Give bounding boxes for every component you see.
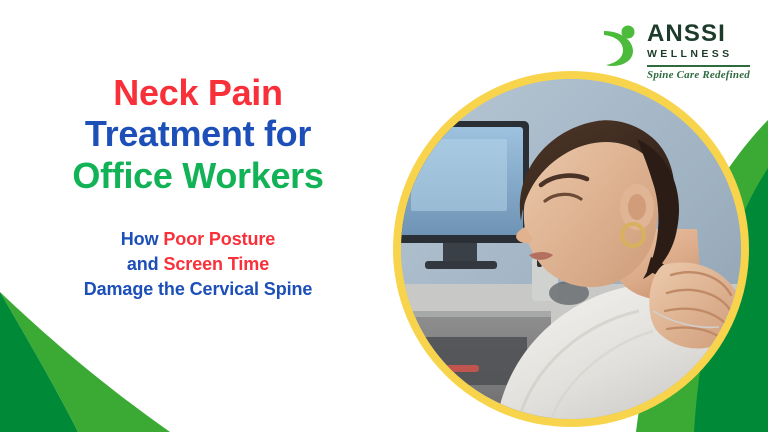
brand-subtitle: WELLNESS xyxy=(647,46,733,63)
subheadline-line-3: Damage the Cervical Spine xyxy=(0,277,396,302)
subheadline-line-1: How Poor Posture xyxy=(0,227,396,252)
headline-block: Neck Pain Treatment for Office Workers H… xyxy=(0,72,396,302)
subheadline-line-1-highlight: Poor Posture xyxy=(163,229,275,249)
headline-line-3: Office Workers xyxy=(0,155,396,197)
bottom-left-green-swoosh-dark xyxy=(0,292,78,432)
brand-logo-text: ANSSI WELLNESS Spine Care Redefined xyxy=(647,22,750,82)
headline-line-2: Treatment for xyxy=(0,114,396,156)
bottom-left-green-swoosh-light xyxy=(0,292,170,432)
subheadline-line-1-plain: How xyxy=(121,229,164,249)
photo-ring xyxy=(393,71,749,427)
subheadline-line-2-highlight: Screen Time xyxy=(163,254,269,274)
brand-divider xyxy=(647,65,750,66)
headline: Neck Pain Treatment for Office Workers xyxy=(0,72,396,197)
banner-canvas: Neck Pain Treatment for Office Workers H… xyxy=(0,0,768,432)
subheadline-line-2: and Screen Time xyxy=(0,252,396,277)
crescent-dot-logo-icon xyxy=(598,24,638,68)
subheadline-line-2-plain: and xyxy=(127,254,164,274)
headline-line-1: Neck Pain xyxy=(0,72,396,114)
brand-tagline: Spine Care Redefined xyxy=(647,69,750,82)
hero-photo xyxy=(401,79,741,419)
brand-logo: ANSSI WELLNESS Spine Care Redefined xyxy=(598,22,750,82)
brand-name: ANSSI xyxy=(647,22,726,46)
subheadline: How Poor Posture and Screen Time Damage … xyxy=(0,227,396,301)
